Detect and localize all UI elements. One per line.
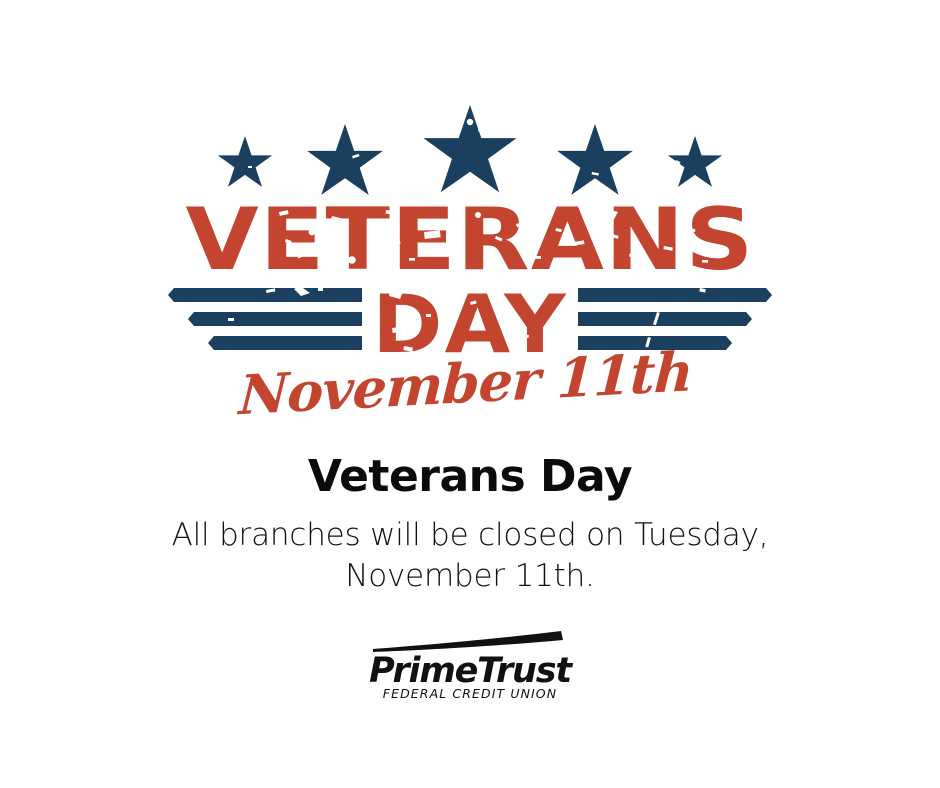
star-icon [218,136,272,187]
star-row [0,96,940,196]
closure-notice: All branches will be closed on Tuesday, … [0,515,940,597]
logo-tagline: FEDERAL CREDIT UNION [383,686,557,701]
veterans-day-emblem: VETERANS [0,96,940,426]
star-icon [307,124,383,195]
veterans-wordmark: VETERANS [0,198,940,286]
closure-notice-line-2: November 11th. [0,556,940,597]
page-title: Veterans Day [0,452,940,501]
script-date-text: November 11th [236,348,694,426]
stripe-group-right [578,288,772,350]
stripe [578,288,772,302]
swoosh-icon [373,631,563,652]
veterans-text: VETERANS [185,198,754,286]
stripe [188,312,362,326]
star-icon [557,124,633,195]
logo-wordmark: PrimeTrust [369,651,573,691]
closure-notice-line-1: All branches will be closed on Tuesday, [0,515,940,556]
primetrust-logo: PrimeTrust FEDERAL CREDIT UNION [0,628,940,704]
veterans-day-poster: VETERANS [0,0,940,788]
stripe-group-left [168,288,362,350]
message-block: Veterans Day All branches will be closed… [0,452,940,597]
star-icon [668,136,722,187]
star-group [218,105,722,195]
star-icon [423,105,516,192]
stripe [578,312,752,326]
stripe [168,288,362,302]
script-date: November 11th [0,348,940,426]
